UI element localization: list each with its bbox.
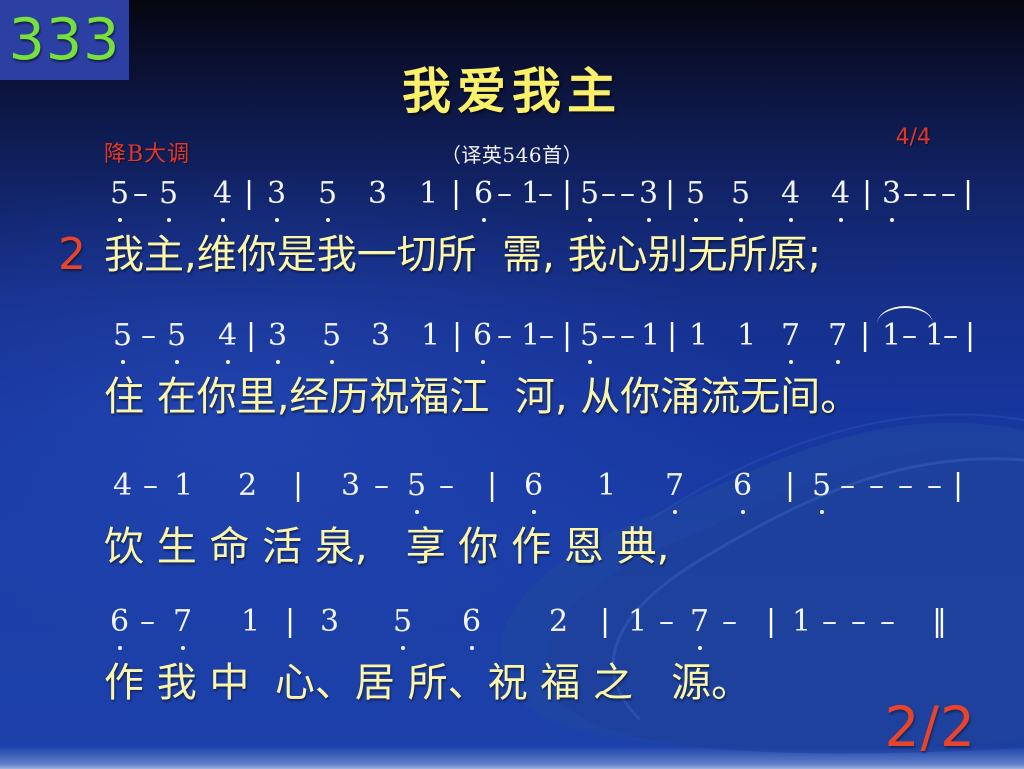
barline: | bbox=[953, 468, 963, 503]
note: 1 bbox=[421, 318, 440, 353]
note: 1 bbox=[925, 318, 944, 353]
note-dash: – bbox=[439, 468, 454, 503]
notation-row-3: 4 – 1 2 | 3 – 5 – | 6 1 7 6 | 5 – – – – … bbox=[0, 468, 1024, 514]
note: 1 bbox=[628, 604, 647, 639]
note-dash: – bbox=[903, 176, 918, 211]
note-dash: – bbox=[601, 176, 616, 211]
note: 5 bbox=[812, 468, 831, 503]
note-dash: – bbox=[722, 604, 737, 639]
note: 7 bbox=[690, 604, 709, 639]
note: 1 bbox=[419, 176, 438, 211]
note: 5 bbox=[318, 176, 337, 211]
source-note: （译英546首） bbox=[0, 139, 1024, 168]
note: 3 bbox=[639, 176, 658, 211]
note: 5 bbox=[580, 318, 599, 353]
barline: | bbox=[963, 176, 973, 211]
note-dash: – bbox=[922, 176, 937, 211]
note: 2 bbox=[238, 468, 257, 503]
note-dash: – bbox=[374, 468, 389, 503]
final-barline: ‖ bbox=[932, 604, 943, 639]
notation-row-1: 5 – 5 4 | 3 5 3 1 | 6 – 1 – | 5 – – 3 | … bbox=[0, 176, 1024, 222]
note-dash: – bbox=[822, 604, 837, 639]
time-signature: 4/4 bbox=[896, 125, 931, 150]
lyrics-text: 饮 生 命 活 泉, 享 你 作 恩 典, bbox=[104, 514, 669, 572]
note-dash: – bbox=[143, 468, 158, 503]
lyrics-text: 我主,维你是我一切所 需, 我心别无所原; bbox=[104, 222, 821, 280]
note: 1 bbox=[241, 604, 260, 639]
hymn-slide: 333 我爱我主 降B大调 （译英546首） 4/4 2 5 – 5 4 | 3… bbox=[0, 0, 1024, 769]
lyrics-row-2: 住 在你里,经历祝福江 河, 从你涌流无间。 bbox=[0, 364, 1024, 422]
note: 4 bbox=[781, 176, 800, 211]
note: 2 bbox=[549, 604, 568, 639]
note-dash: – bbox=[601, 318, 616, 353]
barline: | bbox=[562, 318, 572, 353]
note-dash: – bbox=[869, 468, 884, 503]
note: 5 bbox=[110, 176, 129, 211]
note-dash: – bbox=[840, 468, 855, 503]
note: 7 bbox=[828, 318, 847, 353]
note-dash: – bbox=[659, 604, 674, 639]
note: 6 bbox=[474, 176, 493, 211]
note: 5 bbox=[159, 176, 178, 211]
barline: | bbox=[862, 176, 872, 211]
lyrics-text: 作 我 中 心、居 所、祝 福 之 源。 bbox=[104, 650, 751, 708]
barline: | bbox=[285, 604, 295, 639]
barline: | bbox=[600, 604, 610, 639]
note: 5 bbox=[686, 176, 705, 211]
note-dash: – bbox=[927, 468, 942, 503]
note-dash: – bbox=[133, 176, 148, 211]
barline: | bbox=[244, 176, 254, 211]
barline: | bbox=[451, 176, 461, 211]
note: 3 bbox=[368, 176, 387, 211]
note-dash: – bbox=[538, 176, 553, 211]
note: 6 bbox=[733, 468, 752, 503]
note-dash: – bbox=[620, 176, 635, 211]
note: 4 bbox=[831, 176, 850, 211]
note: 4 bbox=[218, 318, 237, 353]
barline: | bbox=[293, 468, 303, 503]
note-dash: – bbox=[497, 176, 512, 211]
note: 5 bbox=[393, 604, 412, 639]
lyrics-row-4: 作 我 中 心、居 所、祝 福 之 源。 bbox=[0, 650, 1024, 708]
music-system-4: 6 – 7 1 | 3 5 6 2 | 1 – 7 – | 1 – – – ‖ … bbox=[0, 604, 1024, 708]
note: 5 bbox=[580, 176, 599, 211]
barline: | bbox=[785, 468, 795, 503]
barline: | bbox=[452, 318, 462, 353]
note-dash: – bbox=[902, 318, 917, 353]
note: 1 bbox=[689, 318, 708, 353]
note: 4 bbox=[213, 176, 232, 211]
note-dash: – bbox=[943, 318, 958, 353]
note: 6 bbox=[473, 318, 492, 353]
note-dash: – bbox=[941, 176, 956, 211]
note: 7 bbox=[781, 318, 800, 353]
notation-row-2: 5 – 5 4 | 3 5 3 1 | 6 – 1 – | 5 – – 1 | … bbox=[0, 318, 1024, 364]
barline: | bbox=[965, 318, 975, 353]
note: 5 bbox=[322, 318, 341, 353]
note: 1 bbox=[737, 318, 756, 353]
note: 5 bbox=[407, 468, 426, 503]
note-dash: – bbox=[140, 604, 155, 639]
note: 3 bbox=[267, 176, 286, 211]
note: 3 bbox=[882, 176, 901, 211]
music-system-3: 4 – 1 2 | 3 – 5 – | 6 1 7 6 | 5 – – – – … bbox=[0, 468, 1024, 572]
note: 1 bbox=[174, 468, 193, 503]
note: 7 bbox=[665, 468, 684, 503]
note: 5 bbox=[167, 318, 186, 353]
page-title: 我爱我主 bbox=[0, 52, 1024, 123]
note-dash: – bbox=[539, 318, 554, 353]
note: 3 bbox=[320, 604, 339, 639]
music-system-2: 5 – 5 4 | 3 5 3 1 | 6 – 1 – | 5 – – 1 | … bbox=[0, 318, 1024, 422]
note: 1 bbox=[597, 468, 616, 503]
barline: | bbox=[667, 318, 677, 353]
music-system-1: 5 – 5 4 | 3 5 3 1 | 6 – 1 – | 5 – – 3 | … bbox=[0, 176, 1024, 280]
note: 4 bbox=[113, 468, 132, 503]
barline: | bbox=[487, 468, 497, 503]
note: 1 bbox=[882, 318, 901, 353]
note: 1 bbox=[641, 318, 660, 353]
barline: | bbox=[562, 176, 572, 211]
note-dash: – bbox=[497, 318, 512, 353]
note: 5 bbox=[731, 176, 750, 211]
barline: | bbox=[665, 176, 675, 211]
note-dash: – bbox=[141, 318, 156, 353]
note: 6 bbox=[462, 604, 481, 639]
note: 1 bbox=[521, 318, 540, 353]
note: 7 bbox=[173, 604, 192, 639]
barline: | bbox=[766, 604, 776, 639]
note-dash: – bbox=[880, 604, 895, 639]
notation-row-4: 6 – 7 1 | 3 5 6 2 | 1 – 7 – | 1 – – – ‖ bbox=[0, 604, 1024, 650]
note: 6 bbox=[110, 604, 129, 639]
note: 3 bbox=[371, 318, 390, 353]
note: 3 bbox=[268, 318, 287, 353]
lyrics-text: 住 在你里,经历祝福江 河, 从你涌流无间。 bbox=[104, 364, 860, 422]
lyrics-row-3: 饮 生 命 活 泉, 享 你 作 恩 典, bbox=[0, 514, 1024, 572]
barline: | bbox=[246, 318, 256, 353]
barline: | bbox=[860, 318, 870, 353]
note-dash: – bbox=[620, 318, 635, 353]
note: 1 bbox=[792, 604, 811, 639]
note: 6 bbox=[524, 468, 543, 503]
lyrics-row-1: 我主,维你是我一切所 需, 我心别无所原; bbox=[0, 222, 1024, 280]
note-dash: – bbox=[898, 468, 913, 503]
note: 3 bbox=[341, 468, 360, 503]
page-counter: 2/2 bbox=[884, 695, 976, 759]
note-dash: – bbox=[851, 604, 866, 639]
note: 5 bbox=[113, 318, 132, 353]
